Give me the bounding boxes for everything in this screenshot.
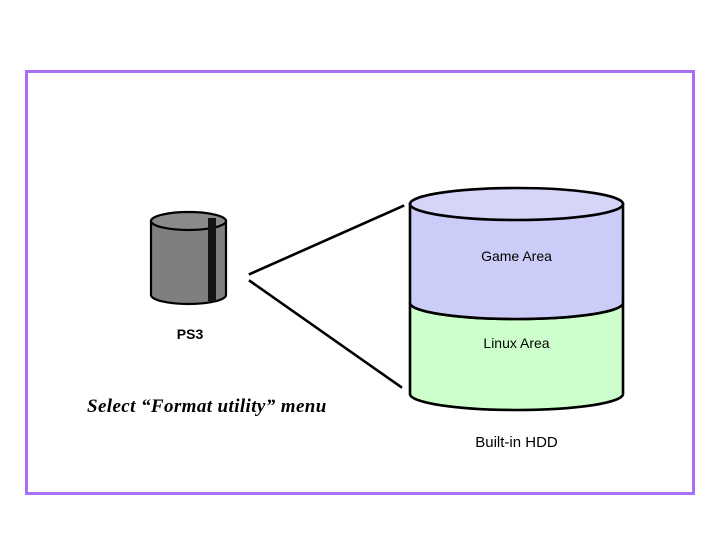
ps3-cylinder bbox=[151, 212, 226, 304]
hdd-partition-game-label: Game Area bbox=[410, 248, 623, 264]
callout-line-upper bbox=[250, 206, 403, 274]
slide-canvas: PS3 Game Area Linux Area Built-in HDD Se… bbox=[0, 0, 720, 540]
callout-line-lower bbox=[250, 281, 401, 387]
hdd-label: Built-in HDD bbox=[410, 434, 623, 451]
ps3-cylinder-stripe bbox=[208, 218, 216, 301]
ps3-label: PS3 bbox=[150, 326, 230, 342]
hdd-cylinder bbox=[410, 188, 623, 410]
hdd-partition-linux-label: Linux Area bbox=[410, 335, 623, 351]
diagram-svg bbox=[0, 0, 720, 540]
callout-lines bbox=[250, 206, 403, 387]
hdd-cylinder-top bbox=[410, 188, 623, 220]
instruction-text: Select “Format utility” menu bbox=[87, 396, 327, 418]
